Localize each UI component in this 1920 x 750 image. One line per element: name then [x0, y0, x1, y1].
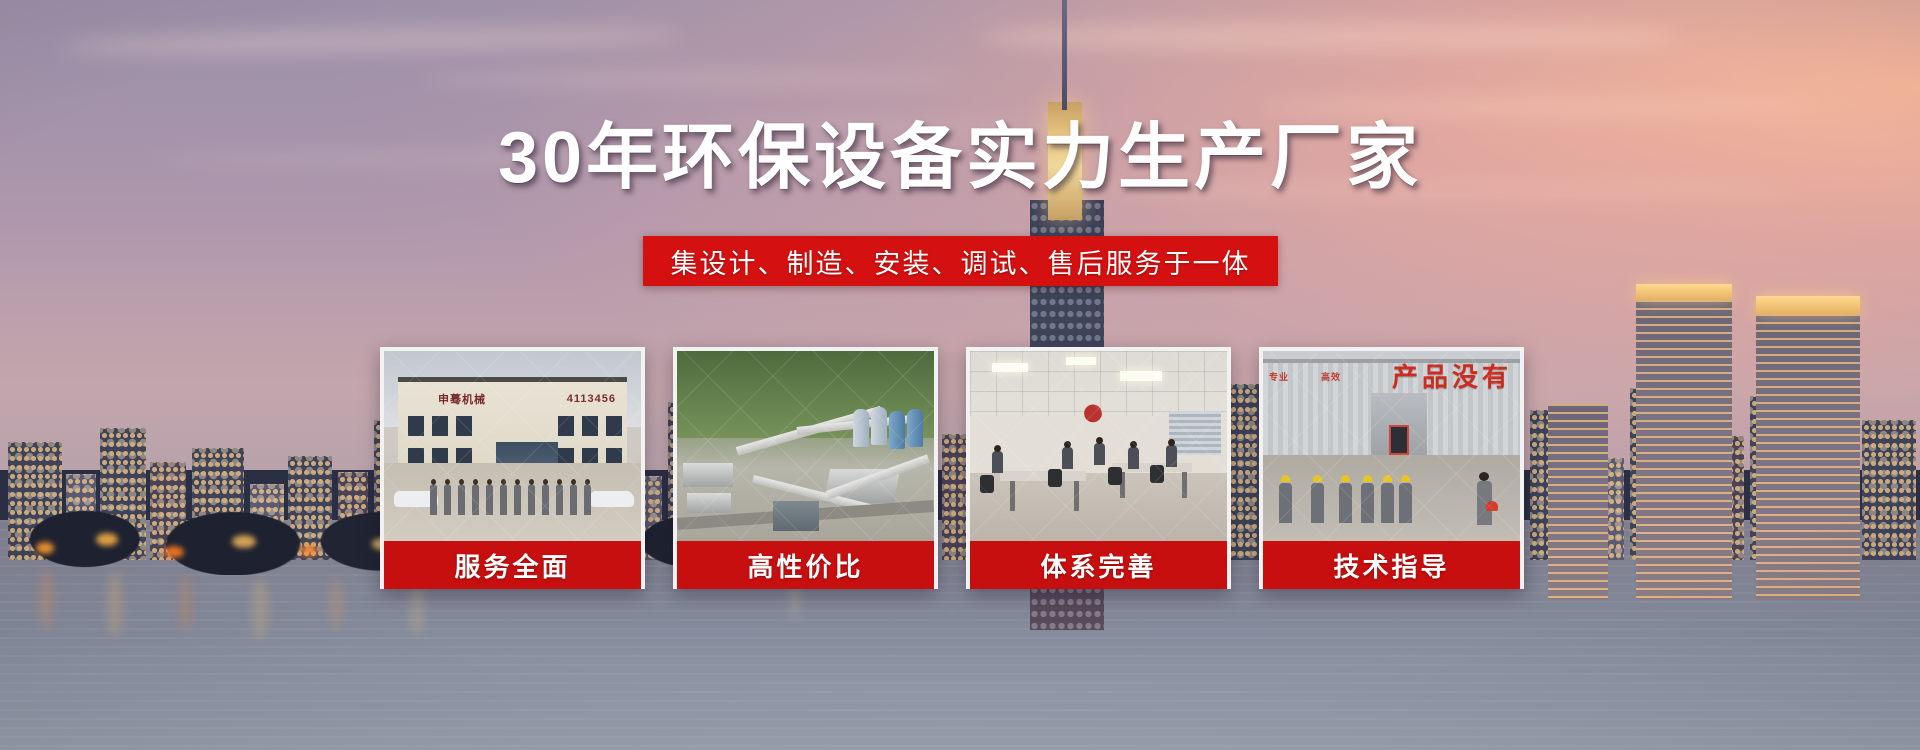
building-sign-text: 申蓦机械 [438, 391, 486, 407]
feature-card[interactable]: 高性价比 [673, 347, 938, 589]
subtitle-text: 集设计、制造、安装、调试、售后服务于一体 [671, 242, 1251, 281]
aerial-plant-photo [677, 351, 934, 541]
feature-card[interactable]: 产品没有 专业 高效 技术指导 [1259, 347, 1524, 589]
feature-card[interactable]: 体系完善 [966, 347, 1231, 589]
feature-card-label: 技术指导 [1263, 541, 1520, 589]
feature-card[interactable]: 申蓦机械 4113456 [380, 347, 645, 589]
feature-card-label-text: 高性价比 [747, 547, 863, 584]
factory-wall-slogan: 产品没有 [1392, 357, 1512, 394]
wall-logo [1078, 403, 1108, 429]
feature-card-label: 体系完善 [970, 541, 1227, 589]
feature-card-list: 申蓦机械 4113456 [380, 347, 1524, 589]
factory-wall-subslogan: 高效 [1321, 371, 1341, 383]
factory-yard-photo: 产品没有 专业 高效 [1263, 351, 1520, 541]
feature-card-label-text: 服务全面 [454, 547, 570, 584]
feature-card-label-text: 技术指导 [1333, 547, 1449, 584]
building-phone-text: 4113456 [567, 393, 616, 405]
hero-banner: 30年环保设备实力生产厂家 集设计、制造、安装、调试、售后服务于一体 申蓦机械 … [0, 0, 1920, 750]
factory-wall-subslogan: 专业 [1269, 371, 1289, 383]
feature-card-label: 高性价比 [677, 541, 934, 589]
office-interior-photo [970, 351, 1227, 541]
feature-card-label: 服务全面 [384, 541, 641, 589]
page-title: 30年环保设备实力生产厂家 [0, 122, 1920, 194]
company-building-photo: 申蓦机械 4113456 [384, 351, 641, 541]
feature-card-label-text: 体系完善 [1040, 547, 1156, 584]
subtitle-banner: 集设计、制造、安装、调试、售后服务于一体 [643, 236, 1278, 286]
